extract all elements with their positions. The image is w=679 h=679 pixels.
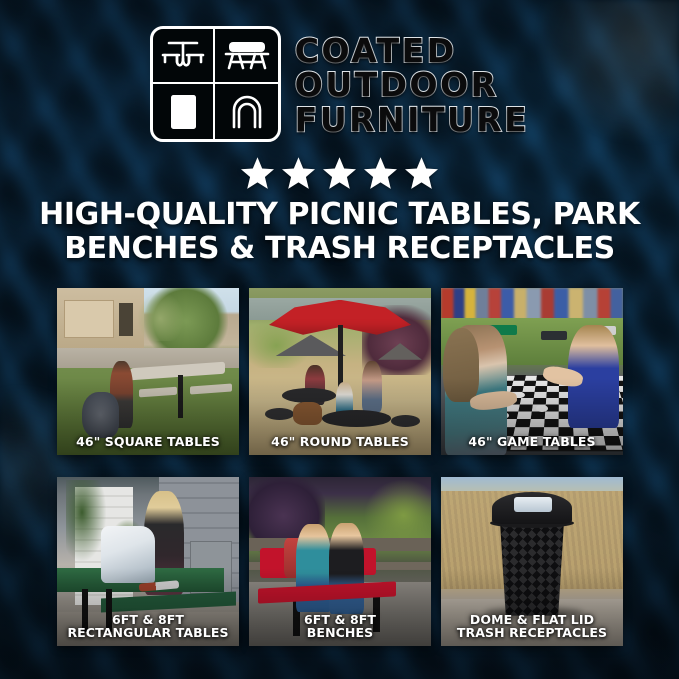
star-icon [323,157,356,189]
product-caption-round-tables: 46" ROUND TABLES [252,435,428,449]
product-caption-square-tables: 46" SQUARE TABLES [60,435,236,449]
star-icon [405,157,438,189]
product-tile-benches[interactable]: 6FT & 8FT BENCHES [249,477,431,646]
headline-line-2: BENCHES & TRASH RECEPTACLES [30,232,649,266]
product-tile-rectangular-tables[interactable]: 6FT & 8FT RECTANGULAR TABLES [57,477,239,646]
product-caption-rectangular-tables: 6FT & 8FT RECTANGULAR TABLES [60,613,236,641]
product-grid: 46" SQUARE TABLES 46" ROUND TABLES [57,288,623,646]
logo-mark [150,26,281,142]
brand-name-line-3: FURNITURE [295,103,529,137]
star-icon [241,157,274,189]
caption-line-2: TRASH RECEPTACLES [444,626,620,640]
park-bench-icon [215,29,278,84]
product-tile-square-tables[interactable]: 46" SQUARE TABLES [57,288,239,455]
product-tile-round-tables[interactable]: 46" ROUND TABLES [249,288,431,455]
caption-line-1: 46" SQUARE TABLES [76,434,220,449]
headline-line-1: HIGH-QUALITY PICNIC TABLES, PARK [39,197,640,232]
product-caption-benches: 6FT & 8FT BENCHES [252,613,428,641]
product-tile-game-tables[interactable]: 46" GAME TABLES [441,288,623,455]
trash-receptacle-icon [153,84,216,139]
product-caption-game-tables: 46" GAME TABLES [444,435,620,449]
product-caption-trash-receptacles: DOME & FLAT LID TRASH RECEPTACLES [444,613,620,641]
picnic-table-icon [153,29,216,84]
headline: HIGH-QUALITY PICNIC TABLES, PARK BENCHES… [30,198,649,265]
product-tile-trash-receptacles[interactable]: DOME & FLAT LID TRASH RECEPTACLES [441,477,623,646]
promo-banner: COATED OUTDOOR FURNITURE HIGH-QUALITY PI… [0,0,679,679]
caption-line-2: RECTANGULAR TABLES [60,626,236,640]
caption-line-2: BENCHES [252,626,428,640]
caption-line-1: 46" ROUND TABLES [271,434,409,449]
star-icon [364,157,397,189]
brand-name-line-1: COATED [295,34,529,68]
brand-name: COATED OUTDOOR FURNITURE [295,34,529,137]
brand-name-line-2: OUTDOOR [295,68,529,102]
bike-rack-icon [215,84,278,139]
brand-logo[interactable]: COATED OUTDOOR FURNITURE [0,26,679,142]
star-icon [282,157,315,189]
star-rating [0,157,679,189]
caption-line-1: 46" GAME TABLES [468,434,595,449]
